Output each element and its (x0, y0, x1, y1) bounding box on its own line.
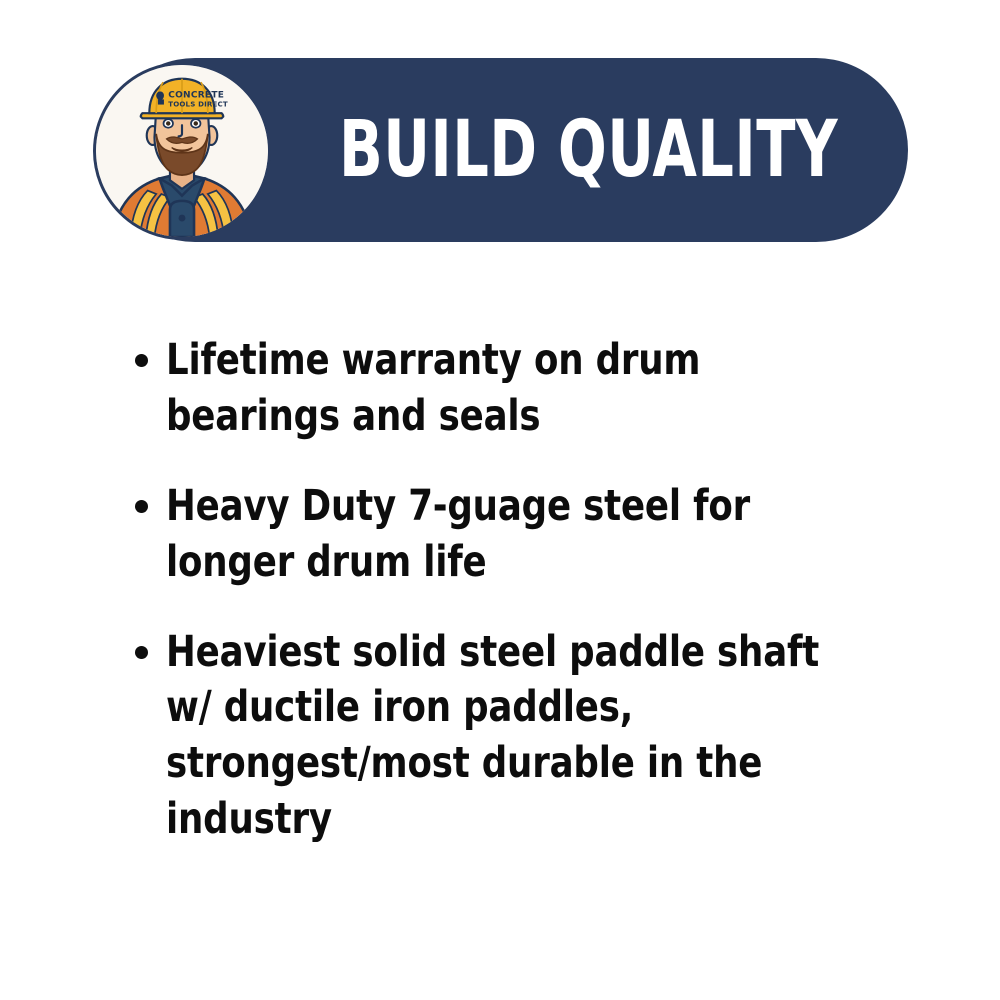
list-item-label: Heaviest solid steel paddle shaft w/ duc… (166, 625, 864, 849)
bullet-dot-icon (135, 500, 148, 513)
list-item: Heavy Duty 7-guage steel for longer drum… (135, 479, 925, 591)
construction-worker-avatar: CONCRETE TOOLS DIRECT (93, 62, 271, 240)
page-title: BUILD QUALITY (339, 58, 838, 242)
list-item: Heaviest solid steel paddle shaft w/ duc… (135, 625, 925, 849)
list-item-label: Lifetime warranty on drum bearings and s… (166, 333, 864, 445)
feature-list: Lifetime warranty on drum bearings and s… (135, 333, 925, 848)
bullet-dot-icon (135, 646, 148, 659)
bullet-dot-icon (135, 354, 148, 367)
build-quality-feature-card: BUILD QUALITY (0, 0, 1000, 1000)
list-item: Lifetime warranty on drum bearings and s… (135, 333, 925, 445)
svg-text:TOOLS DIRECT: TOOLS DIRECT (168, 99, 228, 108)
list-item-label: Heavy Duty 7-guage steel for longer drum… (166, 479, 864, 591)
